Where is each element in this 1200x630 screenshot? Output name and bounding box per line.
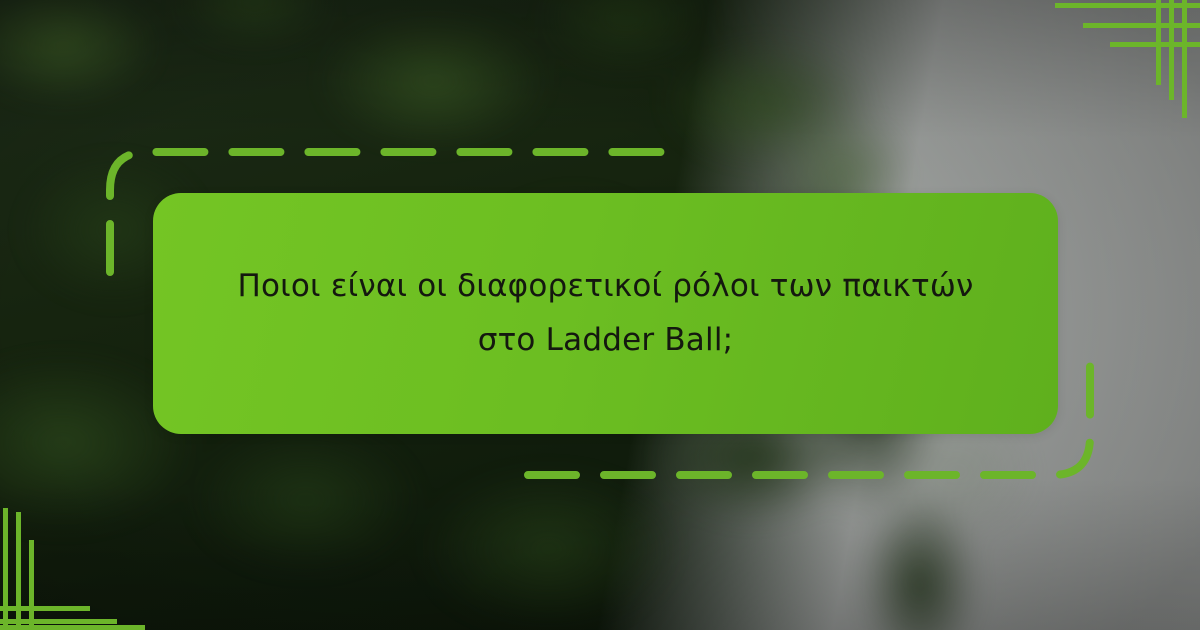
corner-line-h-6 <box>0 625 145 630</box>
question-text: Ποιοι είναι οι διαφορετικοί ρόλοι των πα… <box>153 260 1058 367</box>
corner-line-v-6 <box>29 540 34 630</box>
corner-line-v-4 <box>3 508 8 630</box>
corner-line-h-4 <box>0 606 90 611</box>
corner-line-h-1 <box>1055 3 1200 8</box>
corner-line-v-1 <box>1182 0 1187 118</box>
corner-line-v-2 <box>1169 0 1174 100</box>
share-card-canvas: Ποιοι είναι οι διαφορετικοί ρόλοι των πα… <box>0 0 1200 630</box>
question-card: Ποιοι είναι οι διαφορετικοί ρόλοι των πα… <box>153 193 1058 434</box>
corner-line-v-5 <box>16 512 21 630</box>
corner-line-v-3 <box>1156 0 1161 85</box>
